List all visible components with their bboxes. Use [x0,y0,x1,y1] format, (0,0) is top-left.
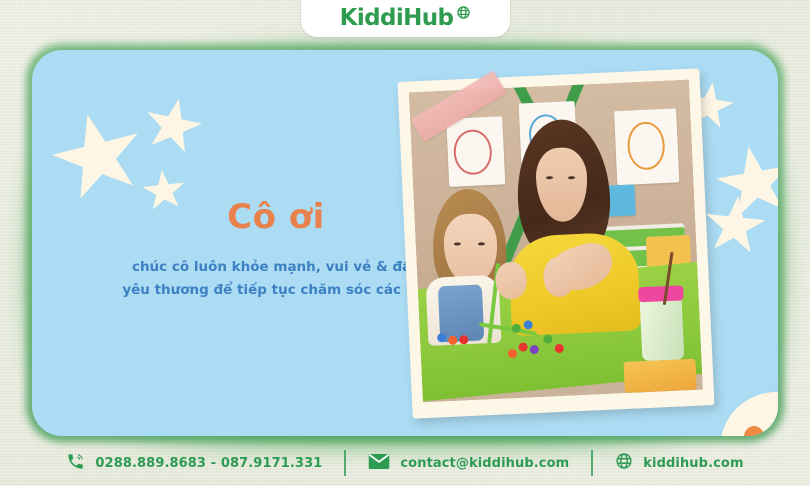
greeting-card-page: Cô ơi chúc cô luôn khỏe mạnh, vui vẻ & đ… [0,0,810,486]
message-block: Cô ơi chúc cô luôn khỏe mạnh, vui vẻ & đ… [120,200,432,302]
photo-bead [518,342,527,351]
photo-bead [523,320,532,329]
footer-website[interactable]: kiddihub.com [593,452,765,474]
footer-phone-text: 0288.889.8683 - 087.9171.331 [95,456,322,471]
photo-bead [508,349,517,358]
globe-icon [615,452,633,474]
mail-icon [368,453,390,474]
smiley-face-icon [720,392,778,436]
photo-bead [535,326,544,335]
footer-phone[interactable]: 0288.889.8683 - 087.9171.331 [44,452,344,475]
star-decoration [139,93,207,160]
footer-email[interactable]: contact@kiddihub.com [346,453,591,474]
footer-website-text: kiddihub.com [643,456,743,471]
card-body: Cô ơi chúc cô luôn khỏe mạnh, vui vẻ & đ… [32,50,778,436]
photo-drink-cup [640,297,685,361]
star-decoration [710,140,778,226]
photo-cup-lid [638,285,683,303]
star-decoration [43,103,154,211]
message-headline: Cô ơi [120,200,432,234]
photo-image [409,80,703,402]
photo-snack-tray [623,359,697,393]
photo-card [398,68,715,418]
star-decoration [701,193,769,259]
photo-frame [398,68,715,418]
smiley-eye [744,426,764,436]
phone-icon [66,452,85,475]
footer-contact-bar: 0288.889.8683 - 087.9171.331 contact@kid… [0,440,810,486]
photo-bead [530,344,539,353]
brand-logo-text: KiddiHub [340,5,454,31]
message-body: chúc cô luôn khỏe mạnh, vui vẻ & đầy yêu… [120,256,432,302]
photo-poster-drawing [453,129,493,175]
photo-child-eye [454,242,461,245]
brand-logo[interactable]: KiddiHub [301,0,510,37]
footer-divider [344,450,346,476]
globe-icon [456,5,471,24]
footer-email-text: contact@kiddihub.com [400,456,569,471]
footer-divider [591,450,593,476]
